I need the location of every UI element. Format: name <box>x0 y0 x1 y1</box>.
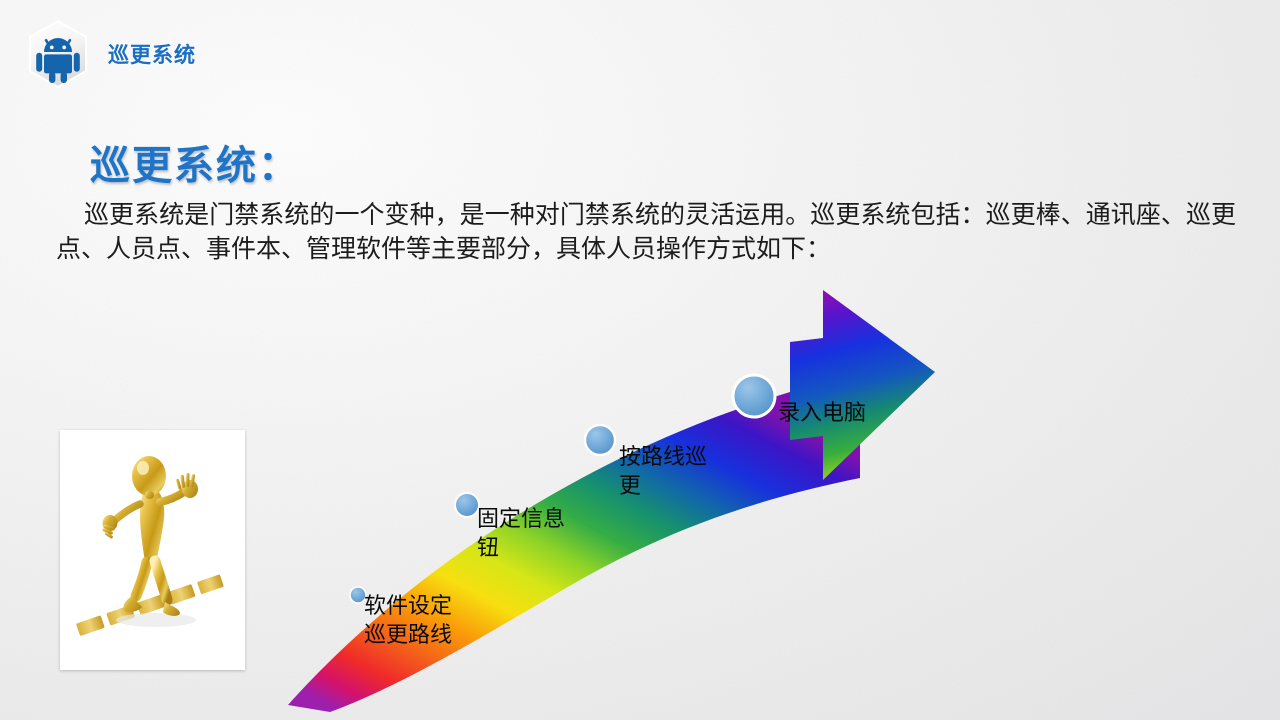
step-label-3: 按路线巡 更 <box>619 443 707 501</box>
step-marker-3[interactable] <box>585 425 615 455</box>
slide-header: 巡更系统 <box>22 18 196 90</box>
android-robot-icon <box>22 18 94 90</box>
golden-mannequin-walking-line-icon <box>60 430 245 670</box>
step-label-4: 录入电脑 <box>778 399 866 428</box>
header-title: 巡更系统 <box>108 39 196 69</box>
page-title: 巡更系统： <box>90 133 300 191</box>
step-label-1: 软件设定 巡更路线 <box>364 592 452 650</box>
illustration-photo <box>60 430 245 670</box>
presentation-slide: 巡更系统 巡更系统： 巡更系统是门禁系统的一个变种，是一种对门禁系统的灵活运用。… <box>0 0 1280 720</box>
slide-body-text: 巡更系统是门禁系统的一个变种，是一种对门禁系统的灵活运用。巡更系统包括：巡更棒、… <box>56 198 1236 266</box>
step-marker-4[interactable] <box>733 375 775 417</box>
logo-badge <box>22 18 94 90</box>
step-label-2: 固定信息 钮 <box>477 505 565 563</box>
arrow-band <box>288 390 860 712</box>
step-marker-2[interactable] <box>455 493 479 517</box>
